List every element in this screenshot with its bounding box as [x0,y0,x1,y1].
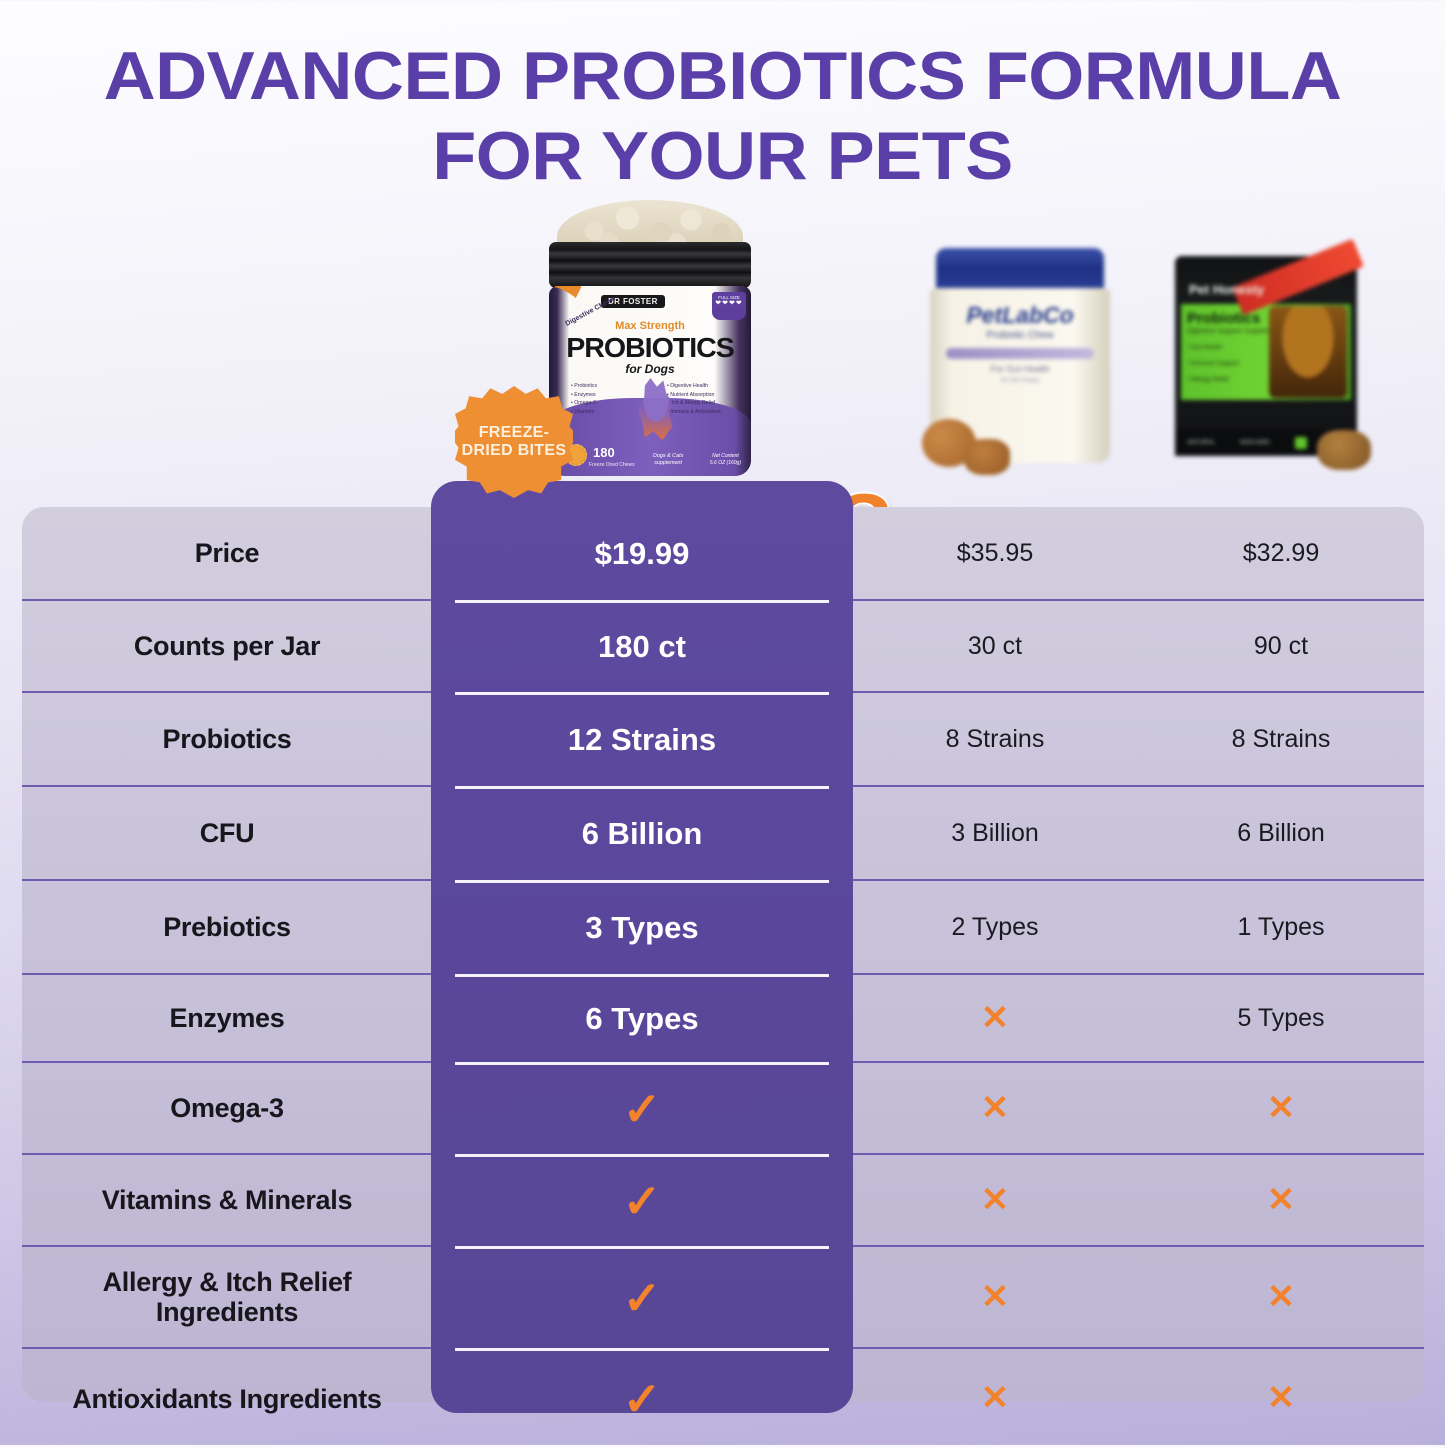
jar-count: 180 [593,445,615,460]
x-icon: ✕ [1267,1379,1296,1417]
row-label: Probiotics [22,724,432,754]
x-icon: ✕ [981,1089,1010,1127]
product-name-text: PROBIOTICS [549,332,751,364]
x-icon: ✕ [981,999,1010,1037]
row-value-competitor-b: $32.99 [1138,539,1424,568]
competitor-a-chew-2 [964,439,1010,475]
jar-count-subtitle: Freeze Dried Chews [589,462,635,468]
row-value-main-highlight: 12 Strains [431,693,853,787]
competitor-b-jar: Pet Honesty Probiotics Digestive Support… [1175,256,1357,456]
x-icon: ✕ [1267,1181,1296,1219]
competitor-b-veg-icon [1295,437,1307,449]
row-value-competitor-a: 8 Strains [852,725,1138,754]
benefits-right: • Digestive Health • Nutrient Absorption… [667,382,721,416]
row-value-main-highlight: ✓ [431,1349,853,1448]
full-size-tag: FULL SIZE ❤❤❤❤ [712,292,746,320]
benefits-left: • Probiotics • Enzymes • Omega-3 • Vitam… [571,382,597,416]
competitor-b-product: Probiotics [1187,310,1260,327]
x-icon: ✕ [1267,1089,1296,1127]
row-value-competitor-b: 5 Types [1138,1004,1424,1033]
row-value-main-highlight: 3 Types [431,881,853,975]
row-value-competitor-b: ✕ [1138,1381,1424,1416]
title-line-2: FOR YOUR PETS [0,122,1445,190]
check-icon: ✓ [623,1376,662,1422]
row-value-competitor-b: 6 Billion [1138,819,1424,848]
competitor-b-bullet-3: • Allergy Relief [1187,376,1229,383]
row-label: Omega-3 [22,1093,432,1123]
max-strength-text: Max Strength [549,320,751,332]
row-label: Enzymes [22,1003,432,1033]
competitor-b-bullet-1: • Gut Health [1187,344,1222,351]
competitor-a-line1: For Gut Health [930,364,1110,374]
dogs-cats-supplement-text: Dogs & Cats supplement [653,453,683,467]
highlighted-column-values: $19.99180 ct12 Strains6 Billion3 Types6 … [431,481,853,1413]
competitor-b-brand: Pet Honesty [1189,282,1264,297]
competitor-b-subtitle: Digestive Support Supplement [1187,328,1282,335]
check-icon: ✓ [623,1178,662,1224]
row-value-competitor-a: ✕ [852,1091,1138,1126]
row-label: Price [22,538,432,568]
competitor-b-footer-left: NATURAL [1187,440,1215,446]
competitor-a-lid [936,248,1104,292]
competitor-b-bullet-2: • Immune Support [1187,360,1239,367]
page-title: ADVANCED PROBIOTICS FORMULA FOR YOUR PET… [0,42,1445,190]
x-icon: ✕ [981,1278,1010,1316]
for-dogs-text: for Dogs [549,362,751,376]
row-value-competitor-a: 3 Billion [852,819,1138,848]
row-value-main-highlight: 180 ct [431,601,853,693]
competitor-b-dog-image [1269,306,1347,398]
row-value-competitor-a: ✕ [852,1280,1138,1315]
row-label: Prebiotics [22,912,432,942]
row-value-competitor-a: ✕ [852,1001,1138,1036]
check-icon: ✓ [623,1086,662,1132]
title-line-1: ADVANCED PROBIOTICS FORMULA [0,42,1445,110]
competitor-a-subtitle: Probiotic Chew [930,330,1110,341]
competitor-b-chew [1317,430,1371,470]
row-value-main-highlight: ✓ [431,1155,853,1247]
paw-icons: ❤❤❤❤ [712,301,746,307]
row-label: Allergy & Itch Relief Ingredients [22,1267,432,1327]
row-value-competitor-a: ✕ [852,1381,1138,1416]
row-label: Antioxidants Ingredients [22,1384,432,1414]
row-label: Counts per Jar [22,631,432,661]
row-value-competitor-b: ✕ [1138,1280,1424,1315]
net-content-text: Net Content 5.6 OZ (160g) [710,453,741,467]
check-icon: ✓ [623,1275,662,1321]
row-value-competitor-b: 90 ct [1138,632,1424,661]
row-value-main-highlight: ✓ [431,1063,853,1155]
row-value-competitor-b: ✕ [1138,1183,1424,1218]
row-value-competitor-b: ✕ [1138,1091,1424,1126]
main-product-jar: DR FOSTER Digestive Chews FULL SIZE ❤❤❤❤… [545,200,755,478]
row-value-competitor-b: 8 Strains [1138,725,1424,754]
jar-label: DR FOSTER Digestive Chews FULL SIZE ❤❤❤❤… [549,286,751,476]
x-icon: ✕ [1267,1278,1296,1316]
competitor-a-jar: PetLabCo Probiotic Chew For Gut Health 3… [930,248,1110,463]
row-value-main-highlight: 6 Billion [431,787,853,881]
row-value-main-highlight: 6 Types [431,975,853,1063]
row-value-competitor-b: 1 Types [1138,913,1424,942]
competitor-a-name: PetLabCo [930,302,1110,329]
x-icon: ✕ [981,1181,1010,1219]
row-value-main-highlight: $19.99 [431,507,853,601]
row-value-competitor-a: 2 Types [852,913,1138,942]
row-value-main-highlight: ✓ [431,1247,853,1349]
row-value-competitor-a: ✕ [852,1183,1138,1218]
row-value-competitor-a: 30 ct [852,632,1138,661]
row-value-competitor-a: $35.95 [852,539,1138,568]
row-label: CFU [22,818,432,848]
competitor-a-stripe [946,348,1094,359]
product-hero: DR FOSTER Digestive Chews FULL SIZE ❤❤❤❤… [0,188,1445,498]
competitor-b-footer-mid: NON-GMO [1240,440,1270,446]
x-icon: ✕ [981,1379,1010,1417]
competitor-a-line2: 30 Soft Chews [930,378,1110,384]
row-label: Vitamins & Minerals [22,1185,432,1215]
jar-lid [549,242,751,288]
